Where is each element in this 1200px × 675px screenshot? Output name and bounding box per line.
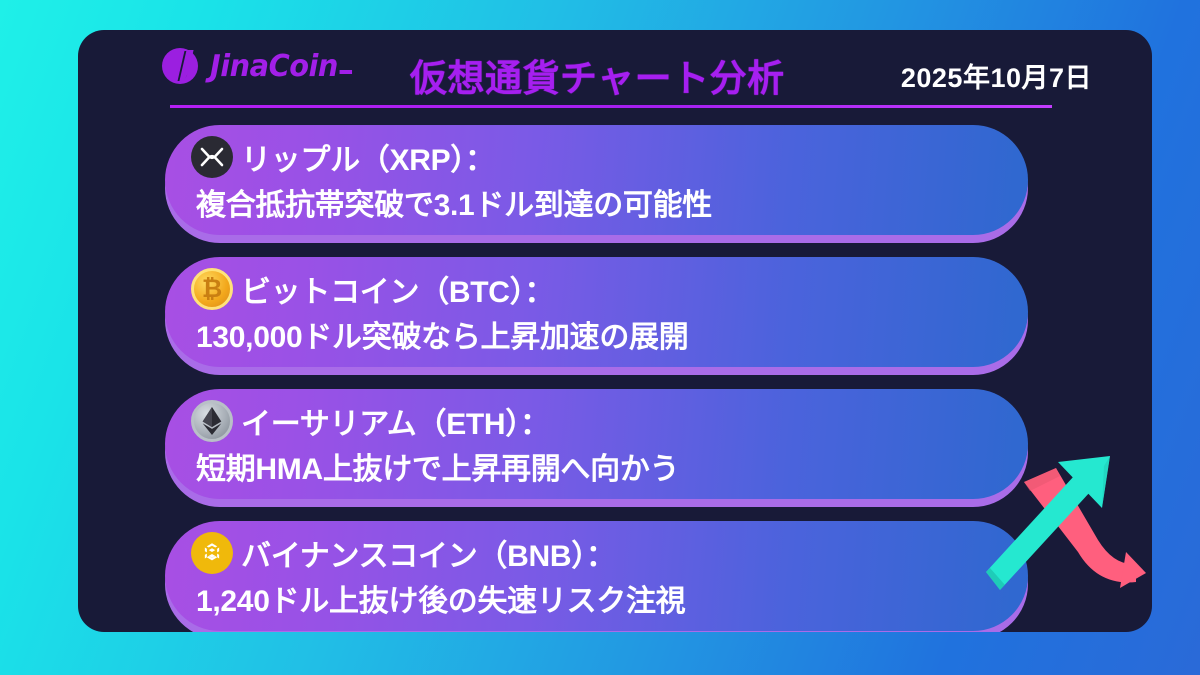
header-divider — [170, 105, 1052, 108]
card-body: 短期HMA上抜けで上昇再開へ向かう — [191, 444, 994, 488]
header-date: 2025年10月7日 — [901, 56, 1092, 95]
coin-card-btc[interactable]: ₿ ビットコイン（BTC）： 130,000ドル突破なら上昇加速の展開 — [165, 257, 1028, 367]
header: JinaCoin 仮想通貨チャート分析 2025年10月7日 — [78, 30, 1152, 108]
coin-card-xrp[interactable]: リップル（XRP）： 複合抵抗帯突破で3.1ドル到達の可能性 — [165, 125, 1028, 235]
brand-name: JinaCoin — [210, 49, 352, 84]
coin-card-bnb[interactable]: バイナンスコイン（BNB）： 1,240ドル上抜け後の失速リスク注視 — [165, 521, 1028, 631]
card-title: リップル（XRP）： — [241, 135, 495, 179]
jinacoin-j-logo-icon — [162, 48, 198, 84]
list-item: リップル（XRP）： 複合抵抗帯突破で3.1ドル到達の可能性 — [78, 125, 1152, 235]
card-body: 1,240ドル上抜け後の失速リスク注視 — [191, 576, 994, 620]
coin-card-eth[interactable]: イーサリアム（ETH）： 短期HMA上抜けで上昇再開へ向かう — [165, 389, 1028, 499]
card-title: ビットコイン（BTC）： — [241, 267, 554, 311]
bnb-coin-icon — [191, 532, 233, 574]
list-item: バイナンスコイン（BNB）： 1,240ドル上抜け後の失速リスク注視 — [78, 521, 1152, 631]
bitcoin-coin-icon: ₿ — [191, 268, 233, 310]
brand-logo: JinaCoin — [162, 48, 355, 84]
card-body: 130,000ドル突破なら上昇加速の展開 — [191, 312, 994, 356]
xrp-coin-icon — [191, 136, 233, 178]
ethereum-coin-icon — [191, 400, 233, 442]
card-title: バイナンスコイン（BNB）： — [241, 531, 616, 575]
card-body: 複合抵抗帯突破で3.1ドル到達の可能性 — [191, 180, 994, 224]
card-title: イーサリアム（ETH）： — [241, 399, 550, 443]
list-item: イーサリアム（ETH）： 短期HMA上抜けで上昇再開へ向かう — [78, 389, 1152, 499]
coin-card-list: リップル（XRP）： 複合抵抗帯突破で3.1ドル到達の可能性 ₿ ビットコイン（… — [78, 125, 1152, 632]
page-title: 仮想通貨チャート分析 — [410, 48, 785, 102]
main-panel: JinaCoin 仮想通貨チャート分析 2025年10月7日 リップル（XRP）… — [78, 30, 1152, 632]
list-item: ₿ ビットコイン（BTC）： 130,000ドル突破なら上昇加速の展開 — [78, 257, 1152, 367]
